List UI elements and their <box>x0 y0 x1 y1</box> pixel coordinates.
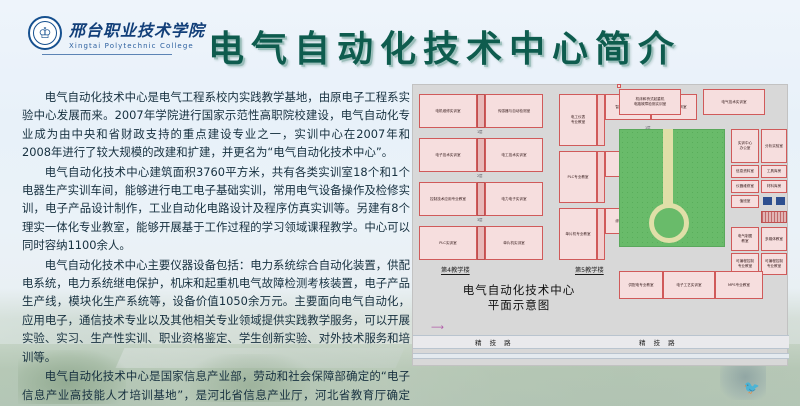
room-cell: PLC专业教室 <box>559 151 597 203</box>
poster-header: ♔ 邢台职业技术学院 Xingtai Polytechnic College 电… <box>0 0 800 82</box>
article-paragraph: 电气自动化技术中心建筑面积3760平方米，共有各类实训室18个和1个电器生产实训… <box>22 163 410 255</box>
stairwell <box>477 94 485 128</box>
elevator-icon <box>763 197 772 205</box>
room-cell: MPS专业教室 <box>715 271 763 299</box>
stairwell <box>477 138 485 172</box>
college-logo-text: 邢台职业技术学院 Xingtai Polytechnic College <box>69 17 205 50</box>
room-cell: 实训中心 办公室 <box>731 129 759 163</box>
room-cell: 电子技术实训室 <box>419 138 477 172</box>
college-name-en: Xingtai Polytechnic College <box>69 42 205 50</box>
room-cell: 传感器与自动检测室 <box>485 94 543 128</box>
horse-glyph: ♔ <box>38 26 51 41</box>
courtyard-path <box>663 129 673 209</box>
courtyard-roundabout <box>649 203 689 243</box>
logo-underline <box>42 54 172 55</box>
room-cell: 电工技术实训室 <box>485 138 543 172</box>
room-cell: 值班室 <box>731 195 759 208</box>
stairwell <box>477 182 485 216</box>
floor-tag: 2层 <box>477 173 483 178</box>
room-cell: 电气制图 教室 <box>731 227 759 251</box>
room-cell: 分析实验室 <box>761 129 787 163</box>
room-cell: 控制技术应用专业教室 <box>419 182 477 216</box>
north-arrow-icon: ⟶ <box>431 323 444 333</box>
plan-caption: 电气自动化技术中心 平面示意图 <box>429 283 609 313</box>
building-label: 第5教学楼 <box>575 265 604 274</box>
article-paragraph: 电气自动化技术中心是国家信息产业部，劳动和社会保障部确定的“电子信息产业高技能人… <box>22 367 410 406</box>
horse-seal-icon: ♔ <box>28 16 62 50</box>
spacer <box>617 84 621 88</box>
room-cell: 电工仪表 专业教室 <box>559 94 597 146</box>
room-cell: 供配电专业教室 <box>619 271 663 299</box>
floorplan-panel: 电机维修实训室 传感器与自动检测室 1层 电子技术实训室 电工技术实训室 2层 … <box>412 84 788 366</box>
room-cell: 单片机专业教室 <box>559 208 597 260</box>
road-label: 精 技 路 <box>475 337 514 347</box>
room-cell: 工具库房 <box>761 165 787 178</box>
college-name-cn: 邢台职业技术学院 <box>69 17 205 41</box>
corridor-segment <box>597 208 605 260</box>
article-paragraph: 电气自动化技术中心是电气工程系校内实践教学基地，由原电子工程系实验中心发展而来。… <box>22 88 410 162</box>
building-label: 第4教学楼 <box>441 265 470 274</box>
floor-tag: 1层 <box>477 129 483 134</box>
plan-caption-line2: 平面示意图 <box>429 298 609 313</box>
room-cell: 可编程控制 专业教室 <box>761 253 787 275</box>
room-cell: 单片机实训室 <box>485 226 543 260</box>
page-title: 电气自动化技术中心简介 <box>208 20 681 72</box>
floorplan-drawing: 电机维修实训室 传感器与自动检测室 1层 电子技术实训室 电工技术实训室 2层 … <box>413 85 787 365</box>
poster-canvas: 🐦 ♔ 邢台职业技术学院 Xingtai Polytechnic College… <box>0 0 800 406</box>
plan-caption-line1: 电气自动化技术中心 <box>429 283 609 298</box>
road-label: 精 技 路 <box>639 337 678 347</box>
stairwell <box>477 226 485 260</box>
floor-tag: 3层 <box>477 217 483 222</box>
corridor-segment <box>597 94 605 146</box>
room-cell: 仪器维修室 <box>731 180 759 193</box>
bird-sculpture-icon: 🐦 <box>744 381 760 396</box>
elevator-icon <box>776 197 785 205</box>
article-body: 电气自动化技术中心是电气工程系校内实践教学基地，由原电子工程系实验中心发展而来。… <box>22 88 410 406</box>
corridor-segment <box>597 151 605 203</box>
road-strip <box>413 335 789 349</box>
room-cell: PLC实训室 <box>419 226 477 260</box>
road-strip-secondary <box>413 353 789 359</box>
room-cell: 电气技术实训室 <box>703 89 765 115</box>
room-cell: 机床和桥式起重机 电路故障检测实训室 <box>619 89 681 115</box>
room-cell: 信息资料室 <box>731 165 759 178</box>
room-cell: 电力电子实训室 <box>485 182 543 216</box>
room-cell: 电子工艺实训室 <box>663 271 715 299</box>
room-cell: 电机维修实训室 <box>419 94 477 128</box>
college-logo: ♔ 邢台职业技术学院 Xingtai Polytechnic College <box>28 16 205 50</box>
article-paragraph: 电气自动化技术中心主要仪器设备包括：电力系统综合自动化装置，供配电系统，电力系统… <box>22 256 410 366</box>
room-cell: 多媒体教室 <box>761 227 787 251</box>
stair-hatch <box>761 211 787 223</box>
room-cell: 材料库房 <box>761 180 787 193</box>
